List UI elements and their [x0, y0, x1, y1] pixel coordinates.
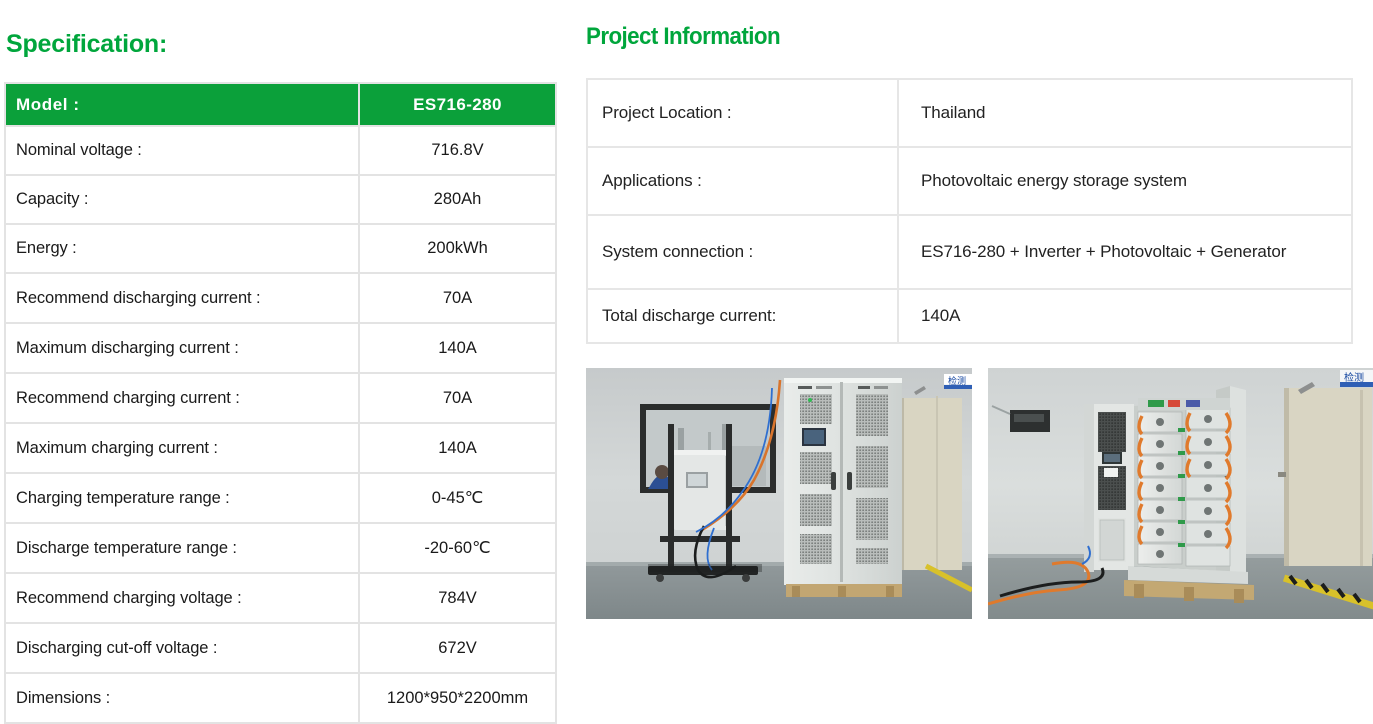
spec-row-value: 70A — [360, 374, 557, 424]
table-row: Discharge temperature range : -20-60℃ — [4, 524, 557, 574]
inverter-and-battery-cabinet-photo: 检测 — [586, 368, 972, 619]
spec-row-value: 716.8V — [360, 127, 557, 176]
project-row-label: Applications : — [586, 148, 899, 216]
table-row: Recommend charging voltage : 784V — [4, 574, 557, 624]
project-information-table: Project Location : Thailand Applications… — [586, 78, 1353, 344]
spec-row-value: 70A — [360, 274, 557, 324]
spec-row-label: Recommend charging voltage : — [4, 574, 360, 624]
specification-title: Specification: — [6, 30, 167, 59]
table-row: Maximum charging current : 140A — [4, 424, 557, 474]
project-information-title: Project Information — [586, 23, 780, 51]
spec-header-row: Model : ES716-280 — [4, 82, 557, 127]
spec-header-value: ES716-280 — [360, 82, 557, 127]
spec-row-label: Maximum charging current : — [4, 424, 360, 474]
project-row-label: System connection : — [586, 216, 899, 290]
spec-row-value: 140A — [360, 324, 557, 374]
table-row: System connection : ES716-280 + Inverter… — [586, 216, 1353, 290]
table-row: Charging temperature range : 0-45℃ — [4, 474, 557, 524]
spec-row-label: Capacity : — [4, 176, 360, 225]
spec-row-value: 280Ah — [360, 176, 557, 225]
spec-row-label: Maximum discharging current : — [4, 324, 360, 374]
spec-header-label: Model : — [4, 82, 360, 127]
spec-row-label: Energy : — [4, 225, 360, 274]
project-information-table-body: Project Location : Thailand Applications… — [586, 78, 1353, 344]
spec-row-label: Discharge temperature range : — [4, 524, 360, 574]
spec-row-value: 140A — [360, 424, 557, 474]
project-row-value: ES716-280 + Inverter + Photovoltaic + Ge… — [899, 216, 1353, 290]
spec-row-label: Charging temperature range : — [4, 474, 360, 524]
spec-row-value: 784V — [360, 574, 557, 624]
specification-table-body: Model : ES716-280 Nominal voltage : 716.… — [4, 82, 557, 724]
project-row-label: Total discharge current: — [586, 290, 899, 344]
table-row: Total discharge current: 140A — [586, 290, 1353, 344]
table-row: Maximum discharging current : 140A — [4, 324, 557, 374]
specification-panel: Specification: Model : ES716-280 Nominal… — [0, 0, 560, 707]
project-row-value: 140A — [899, 290, 1353, 344]
table-row: Energy : 200kWh — [4, 225, 557, 274]
table-row: Nominal voltage : 716.8V — [4, 127, 557, 176]
table-row: Applications : Photovoltaic energy stora… — [586, 148, 1353, 216]
photo-2-graphic: 检测 — [988, 368, 1373, 619]
spec-row-value: -20-60℃ — [360, 524, 557, 574]
spec-row-label: Recommend charging current : — [4, 374, 360, 424]
photo-1-graphic: 检测 — [586, 368, 972, 619]
spec-row-label: Recommend discharging current : — [4, 274, 360, 324]
table-row: Recommend charging current : 70A — [4, 374, 557, 424]
open-battery-cabinet-photo: 检测 — [988, 368, 1373, 619]
project-information-panel: Project Information Project Location : T… — [586, 0, 1373, 707]
spec-row-value: 1200*950*2200mm — [360, 674, 557, 724]
table-row: Capacity : 280Ah — [4, 176, 557, 225]
table-row: Dimensions : 1200*950*2200mm — [4, 674, 557, 724]
table-row: Project Location : Thailand — [586, 78, 1353, 148]
table-row: Recommend discharging current : 70A — [4, 274, 557, 324]
spec-row-label: Nominal voltage : — [4, 127, 360, 176]
spec-row-label: Dimensions : — [4, 674, 360, 724]
spec-row-value: 672V — [360, 624, 557, 674]
spec-row-label: Discharging cut-off voltage : — [4, 624, 360, 674]
specification-table: Model : ES716-280 Nominal voltage : 716.… — [4, 82, 557, 724]
project-row-label: Project Location : — [586, 78, 899, 148]
spec-row-value: 200kWh — [360, 225, 557, 274]
spec-row-value: 0-45℃ — [360, 474, 557, 524]
project-row-value: Thailand — [899, 78, 1353, 148]
table-row: Discharging cut-off voltage : 672V — [4, 624, 557, 674]
project-row-value: Photovoltaic energy storage system — [899, 148, 1353, 216]
